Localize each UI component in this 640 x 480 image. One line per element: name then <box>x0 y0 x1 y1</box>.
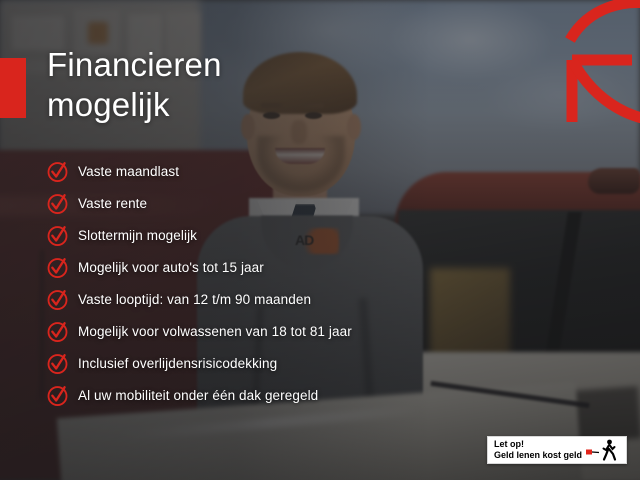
list-item: Vaste looptijd: van 12 t/m 90 maanden <box>46 283 506 315</box>
list-item-label: Vaste maandlast <box>78 164 179 179</box>
list-item-label: Al uw mobiliteit onder één dak geregeld <box>78 388 318 403</box>
page-title: Financieren mogelijk <box>47 45 447 125</box>
title-accent-bar <box>0 58 26 118</box>
check-circle-icon <box>46 288 69 311</box>
promo-banner: AD Financieren mogelijk Vas <box>0 0 640 480</box>
list-item: Mogelijk voor auto's tot 15 jaar <box>46 251 506 283</box>
walking-person-with-money-icon <box>586 438 620 462</box>
check-circle-icon <box>46 320 69 343</box>
list-item: Slottermijn mogelijk <box>46 219 506 251</box>
check-circle-icon <box>46 384 69 407</box>
list-item: Al uw mobiliteit onder één dak geregeld <box>46 379 506 411</box>
warning-text: Let op! Geld lenen kost geld <box>494 439 586 461</box>
list-item: Inclusief overlijdensrisicodekking <box>46 347 506 379</box>
check-circle-icon <box>46 160 69 183</box>
list-item-label: Vaste looptijd: van 12 t/m 90 maanden <box>78 292 311 307</box>
list-item-label: Mogelijk voor volwassenen van 18 tot 81 … <box>78 324 352 339</box>
list-item-label: Vaste rente <box>78 196 147 211</box>
list-item: Vaste maandlast <box>46 155 506 187</box>
feature-checklist: Vaste maandlast Vaste rente Slottermijn … <box>46 155 506 411</box>
check-circle-icon <box>46 352 69 375</box>
list-item-label: Slottermijn mogelijk <box>78 228 197 243</box>
list-item: Vaste rente <box>46 187 506 219</box>
check-circle-icon <box>46 256 69 279</box>
check-circle-icon <box>46 192 69 215</box>
list-item: Mogelijk voor volwassenen van 18 tot 81 … <box>46 315 506 347</box>
status-badge: Let op! Geld lenen kost geld <box>487 436 627 464</box>
list-item-label: Mogelijk voor auto's tot 15 jaar <box>78 260 264 275</box>
list-item-label: Inclusief overlijdensrisicodekking <box>78 356 277 371</box>
check-circle-icon <box>46 224 69 247</box>
